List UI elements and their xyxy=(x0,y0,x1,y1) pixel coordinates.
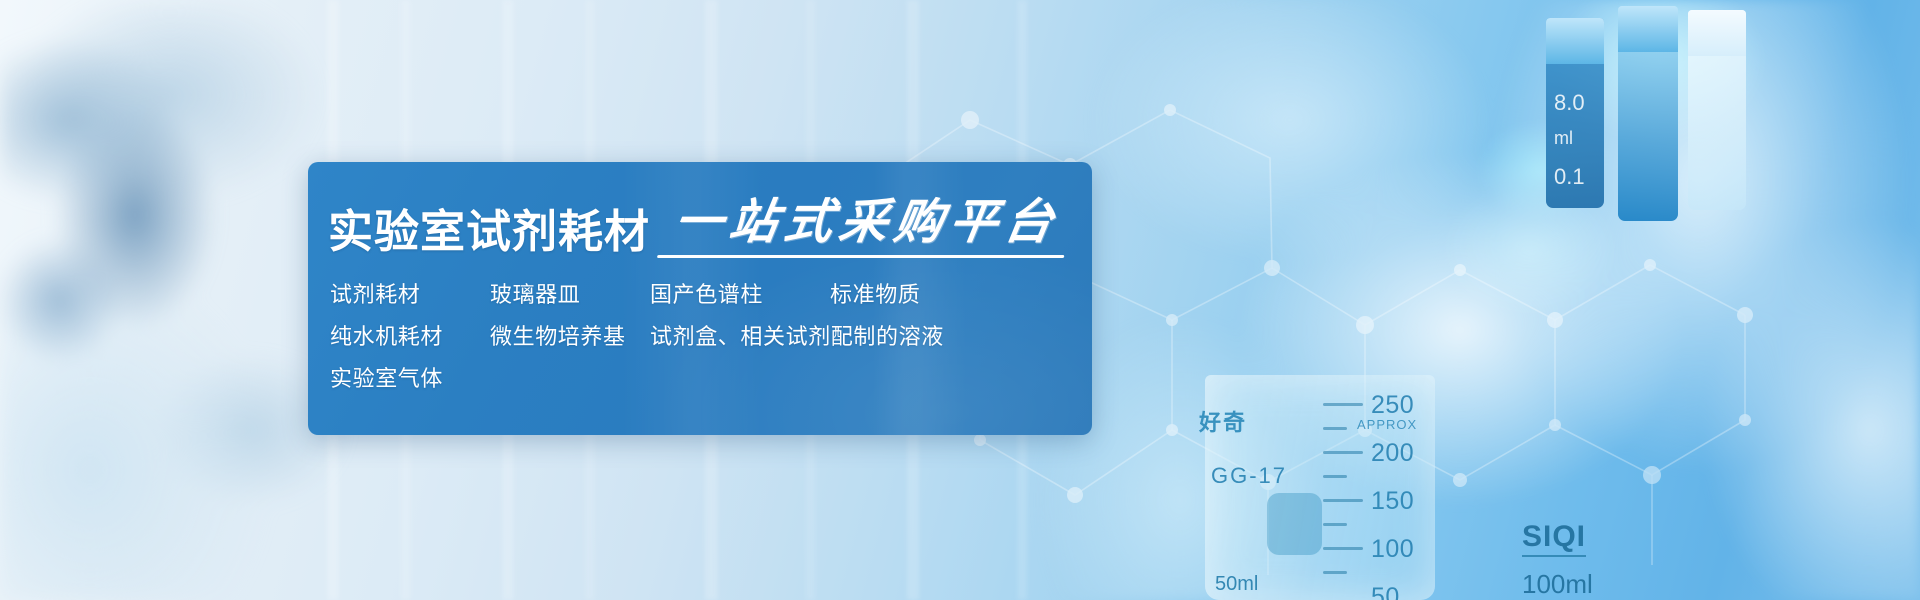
test-tube-1: 8.0 ml 0.1 xyxy=(1546,18,1604,208)
beaker-graduation-150: 150 xyxy=(1371,487,1414,516)
flask-brand-logo: SIQI xyxy=(1522,520,1586,557)
lab-supply-banner: 8.0 ml 0.1 250 200 150 100 50 APPROX 好奇 … xyxy=(0,0,1920,600)
headline-main-text: 实验室试剂耗材 xyxy=(328,209,650,254)
headline-brush-text: 一站式采购平台 xyxy=(664,198,1070,254)
beaker-volume-label: 50ml xyxy=(1215,573,1258,596)
beaker-brand-logo: 好奇 xyxy=(1199,405,1247,437)
category-row: 实验室气体 xyxy=(330,356,1078,398)
beaker-tick xyxy=(1323,523,1347,526)
test-tube-label-2: ml xyxy=(1554,128,1573,149)
beaker-tick xyxy=(1323,475,1347,478)
category-row: 纯水机耗材 微生物培养基 试剂盒、相关试剂配制的溶液 xyxy=(330,314,1078,356)
test-tube-label-3: 0.1 xyxy=(1554,164,1585,190)
beaker-liquid-block xyxy=(1267,493,1322,555)
beaker-tick xyxy=(1323,451,1363,454)
category-tag[interactable]: 试剂盒、相关试剂配制的溶液 xyxy=(650,319,944,351)
category-tag[interactable]: 纯水机耗材 xyxy=(330,319,490,351)
test-tube-cap xyxy=(1546,18,1604,64)
beaker-model-code: GG-17 xyxy=(1211,463,1287,489)
flask-label-group: SIQI 100ml xyxy=(1522,520,1593,600)
category-tag[interactable]: 玻璃器皿 xyxy=(490,277,650,309)
beaker-tick xyxy=(1323,571,1347,574)
category-tag-list: 试剂耗材 玻璃器皿 国产色谱柱 标准物质 纯水机耗材 微生物培养基 试剂盒、相关… xyxy=(330,272,1078,398)
category-tag[interactable]: 微生物培养基 xyxy=(490,319,650,351)
beaker-tick xyxy=(1323,427,1347,430)
test-tube-2 xyxy=(1618,6,1678,221)
beaker-graduation-250: 250 xyxy=(1371,391,1414,420)
test-tube-cap xyxy=(1618,6,1678,52)
beaker-approx-label: APPROX xyxy=(1357,417,1417,432)
beaker-graduation-50: 50 xyxy=(1371,583,1400,600)
category-tag[interactable]: 标准物质 xyxy=(830,277,1000,309)
category-tag[interactable]: 国产色谱柱 xyxy=(650,277,830,309)
test-tube-3 xyxy=(1688,10,1746,210)
beaker-graduation-100: 100 xyxy=(1371,535,1414,564)
beaker-tick xyxy=(1323,403,1363,406)
promo-card: 实验室试剂耗材 一站式采购平台 试剂耗材 玻璃器皿 国产色谱柱 标准物质 纯水机… xyxy=(308,162,1092,435)
headline: 实验室试剂耗材 一站式采购平台 xyxy=(328,192,1082,254)
category-row: 试剂耗材 玻璃器皿 国产色谱柱 标准物质 xyxy=(330,272,1078,314)
beaker-tick xyxy=(1323,547,1363,550)
graduated-beaker: 250 200 150 100 50 APPROX 好奇 GG-17 50ml xyxy=(1205,375,1435,600)
test-tube-cap xyxy=(1688,10,1746,56)
beaker-body xyxy=(1205,375,1435,600)
test-tube-label-1: 8.0 xyxy=(1554,90,1585,116)
category-tag[interactable]: 实验室气体 xyxy=(330,361,490,393)
category-tag[interactable]: 试剂耗材 xyxy=(330,277,490,309)
flask-volume-label: 100ml xyxy=(1522,569,1593,600)
beaker-graduation-200: 200 xyxy=(1371,439,1414,468)
beaker-tick xyxy=(1323,499,1363,502)
